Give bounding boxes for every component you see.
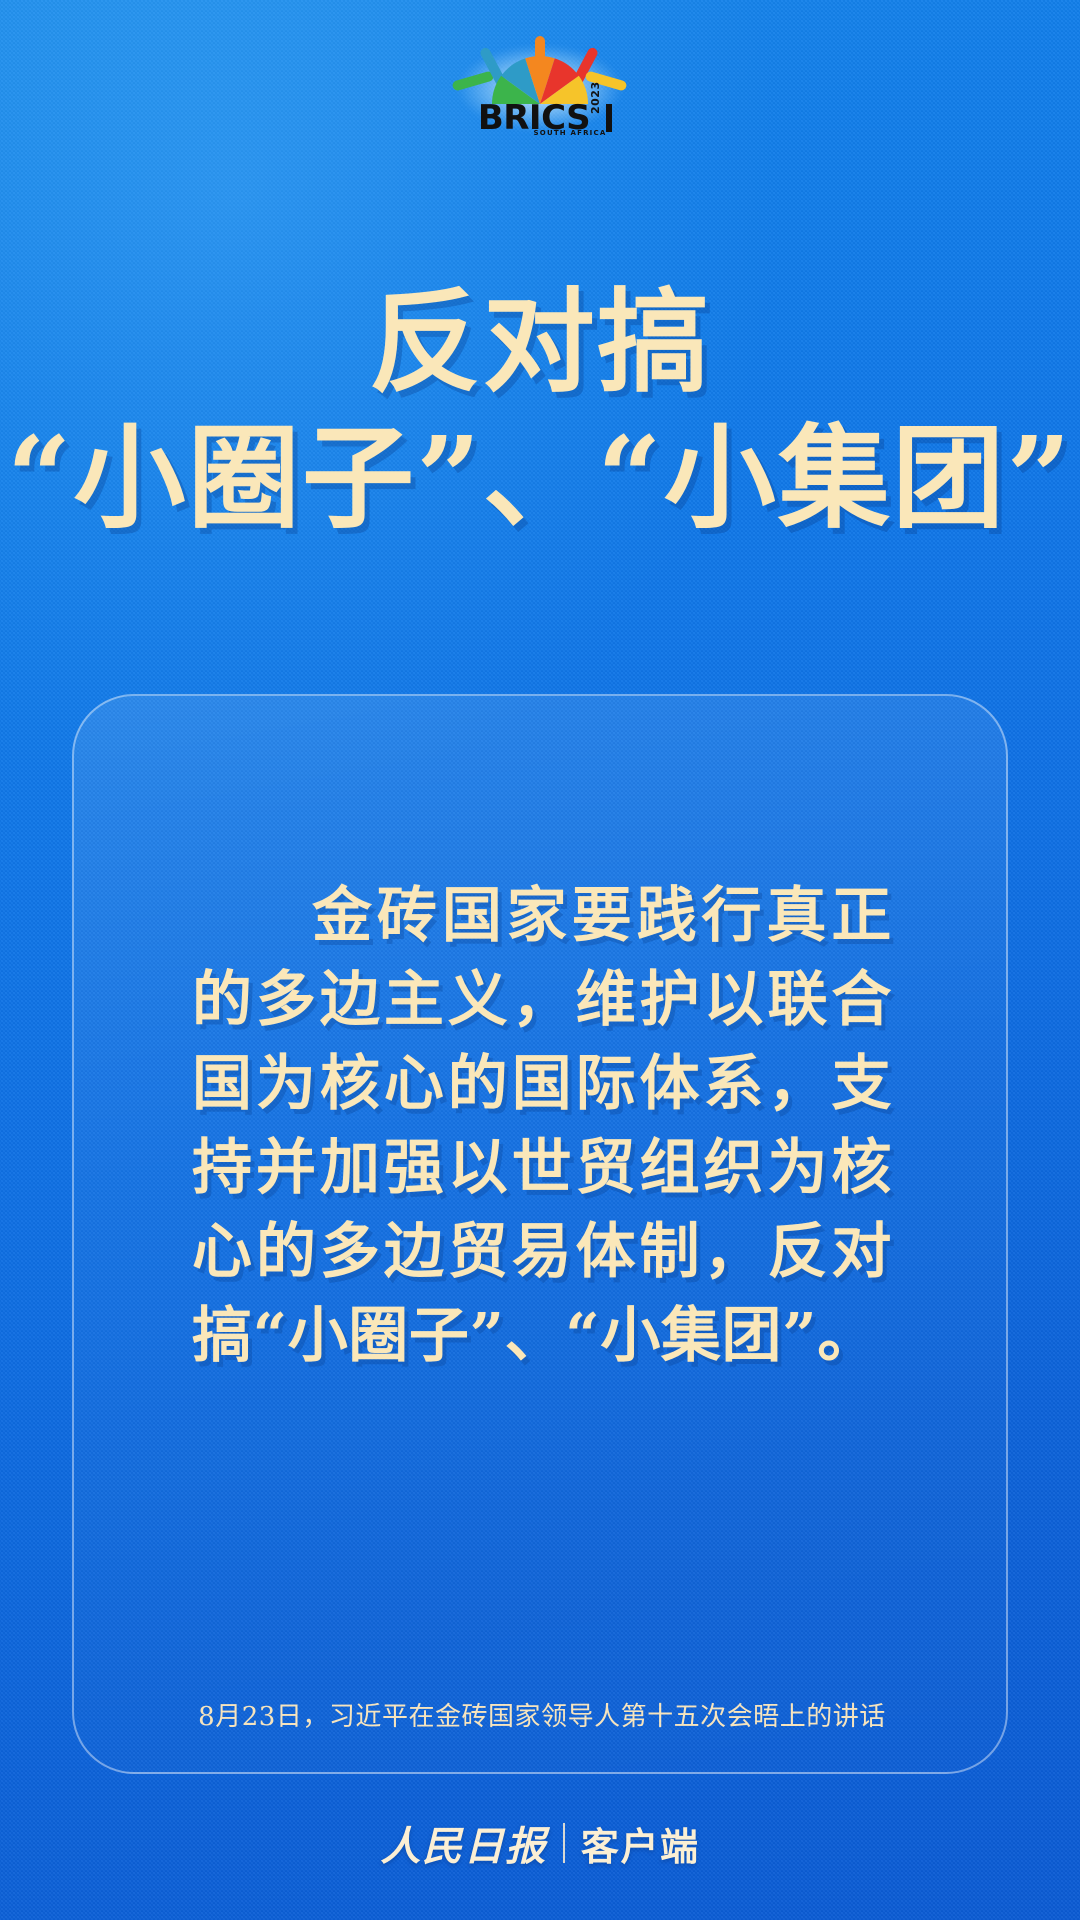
brics-country: SOUTH AFRICA [534, 129, 607, 136]
brics-logo: BRICS 2023 SOUTH AFRICA [0, 26, 1080, 146]
sunburst-fan [492, 56, 588, 104]
quote-source: 8月23日，习近平在金砖国家领导人第十五次会晤上的讲话 [74, 1696, 1010, 1733]
footer-branding: 人民日报 客户端 [0, 1814, 1080, 1872]
footer-sub-name: 客户端 [581, 1816, 700, 1871]
poster-root: BRICS 2023 SOUTH AFRICA 反对搞 “小圈子”、“小集团” … [0, 0, 1080, 1920]
brics-year: 2023 [589, 81, 602, 114]
quote-card: 金砖国家要践行真正的多边主义，维护以联合国为核心的国际体系，支持并加强以世贸组织… [72, 694, 1008, 1774]
quote-text: 金砖国家要践行真正的多边主义，维护以联合国为核心的国际体系，支持并加强以世贸组织… [192, 874, 892, 1378]
page-title: 反对搞 “小圈子”、“小集团” [0, 278, 1080, 544]
footer-divider [563, 1823, 565, 1863]
quote-body: 金砖国家要践行真正的多边主义，维护以联合国为核心的国际体系，支持并加强以世贸组织… [192, 874, 892, 1378]
headline-line-2: “小圈子”、“小集团” [0, 414, 1080, 544]
footer-brand-name: 人民日报 [381, 1814, 547, 1872]
headline-line-1: 反对搞 [0, 278, 1080, 408]
brics-logo-svg: BRICS 2023 SOUTH AFRICA [430, 26, 650, 136]
logo-tick-icon [606, 104, 612, 132]
ray-green-icon [451, 70, 494, 91]
brics-logo-wrap: BRICS 2023 SOUTH AFRICA [430, 26, 650, 136]
